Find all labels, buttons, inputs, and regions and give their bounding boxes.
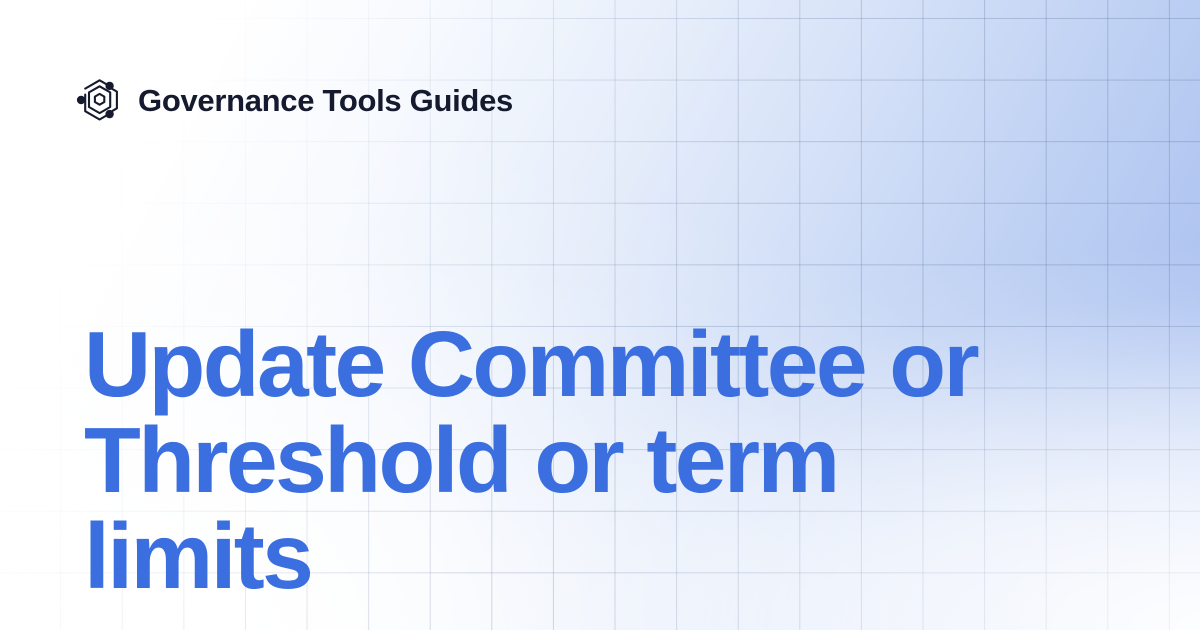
- og-card: Governance Tools Guides Update Committee…: [0, 0, 1200, 630]
- page-title: Update Committee or Threshold or term li…: [84, 317, 1074, 604]
- brand-lockup: Governance Tools Guides: [76, 74, 513, 126]
- card-content: Governance Tools Guides Update Committee…: [0, 0, 1200, 630]
- hexagon-network-icon: [76, 74, 124, 126]
- brand-title: Governance Tools Guides: [138, 85, 513, 116]
